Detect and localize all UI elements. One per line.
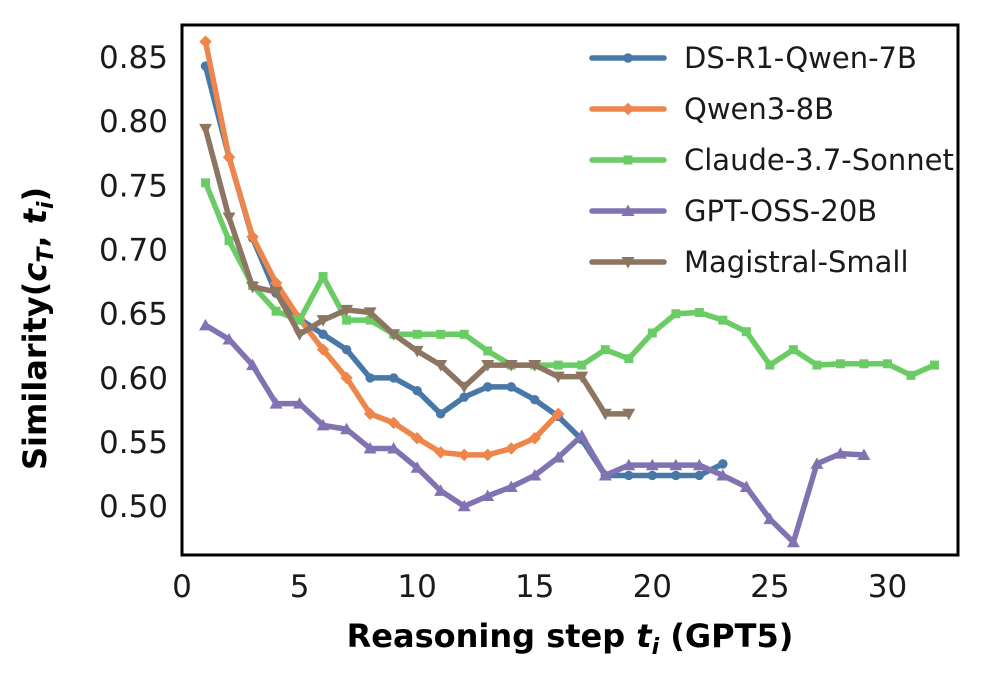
legend-label: Claude-3.7-Sonnet <box>684 143 954 177</box>
data-point-marker <box>859 359 868 368</box>
data-point-marker <box>695 471 704 480</box>
y-tick-label: 0.60 <box>99 361 168 397</box>
series-line <box>206 66 723 475</box>
plot-frame <box>182 25 958 555</box>
x-tick-label: 5 <box>290 569 310 605</box>
legend-label: GPT-OSS-20B <box>684 194 877 228</box>
data-point-marker <box>436 330 445 339</box>
data-point-marker <box>624 354 633 363</box>
data-point-marker <box>225 236 234 245</box>
x-tick-label: 30 <box>868 569 907 605</box>
y-axis-title: Similarity(cT, ti) <box>16 187 59 470</box>
y-tick-label: 0.50 <box>99 489 168 525</box>
data-point-marker <box>623 53 632 62</box>
y-tick-label: 0.70 <box>99 233 168 269</box>
data-point-marker <box>507 382 516 391</box>
data-point-marker <box>812 361 821 370</box>
data-point-marker <box>483 346 492 355</box>
data-point-marker <box>648 471 657 480</box>
data-point-marker <box>483 382 492 391</box>
data-point-marker <box>199 319 212 330</box>
chart-legend: DS-R1-Qwen-7BQwen3-8BClaude-3.7-SonnetGP… <box>592 41 954 279</box>
data-point-marker <box>319 272 328 281</box>
legend-entry: GPT-OSS-20B <box>592 194 877 228</box>
data-point-marker <box>530 395 539 404</box>
series-line <box>206 42 559 455</box>
data-point-marker <box>836 359 845 368</box>
data-point-marker <box>223 151 235 163</box>
x-tick-label: 25 <box>750 569 789 605</box>
legend-label: Magistral-Small <box>684 245 909 279</box>
legend-label: Qwen3-8B <box>684 92 834 126</box>
data-point-marker <box>624 471 633 480</box>
legend-entry: DS-R1-Qwen-7B <box>592 41 917 75</box>
data-point-marker <box>389 373 398 382</box>
data-point-marker <box>648 329 657 338</box>
y-tick-label: 0.65 <box>99 297 168 333</box>
data-point-marker <box>883 359 892 368</box>
data-point-marker <box>671 309 680 318</box>
y-tick-label: 0.80 <box>99 104 168 140</box>
x-axis-tick-labels: 051015202530 <box>172 569 907 605</box>
data-point-marker <box>318 330 327 339</box>
legend-entry: Magistral-Small <box>592 245 909 279</box>
legend-entry: Qwen3-8B <box>592 92 834 126</box>
data-point-marker <box>458 382 471 393</box>
data-point-marker <box>458 449 470 461</box>
data-point-marker <box>554 361 563 370</box>
data-point-marker <box>671 471 680 480</box>
y-tick-label: 0.85 <box>99 40 168 76</box>
data-point-marker <box>695 308 704 317</box>
x-tick-label: 10 <box>397 569 436 605</box>
data-point-marker <box>765 361 774 370</box>
data-point-marker <box>413 330 422 339</box>
data-point-marker <box>577 361 586 370</box>
y-tick-label: 0.55 <box>99 425 168 461</box>
data-point-marker <box>365 373 374 382</box>
svg-text:Reasoning step ti (GPT5): Reasoning step ti (GPT5) <box>347 617 794 660</box>
data-point-marker <box>436 409 445 418</box>
legend-entry: Claude-3.7-Sonnet <box>592 143 954 177</box>
data-point-marker <box>342 345 351 354</box>
x-tick-label: 15 <box>515 569 554 605</box>
data-point-marker <box>459 392 468 401</box>
data-point-marker <box>789 345 798 354</box>
x-axis-title: Reasoning step ti (GPT5) <box>347 617 794 660</box>
data-point-marker <box>622 103 634 115</box>
line-chart-svg: 0.500.550.600.650.700.750.800.85 0510152… <box>0 0 996 689</box>
chart-figure: 0.500.550.600.650.700.750.800.85 0510152… <box>0 0 996 689</box>
x-tick-label: 0 <box>172 569 192 605</box>
data-point-marker <box>342 316 351 325</box>
series-ds-r1-qwen-7b <box>201 61 728 480</box>
data-point-marker <box>293 329 306 340</box>
x-tick-label: 20 <box>633 569 672 605</box>
data-point-marker <box>481 449 493 461</box>
data-point-marker <box>742 327 751 336</box>
data-point-marker <box>201 178 210 187</box>
data-point-marker <box>624 156 633 165</box>
data-point-marker <box>272 307 281 316</box>
data-point-marker <box>199 124 212 135</box>
data-point-marker <box>906 371 915 380</box>
data-point-marker <box>718 459 727 468</box>
y-axis-tick-labels: 0.500.550.600.650.700.750.800.85 <box>99 40 168 525</box>
data-point-marker <box>718 316 727 325</box>
data-point-marker <box>601 345 610 354</box>
svg-text:Similarity(cT, ti): Similarity(cT, ti) <box>16 187 59 470</box>
y-tick-label: 0.75 <box>99 168 168 204</box>
data-point-marker <box>412 386 421 395</box>
data-point-marker <box>199 35 211 47</box>
legend-label: DS-R1-Qwen-7B <box>684 41 917 75</box>
data-point-marker <box>930 361 939 370</box>
data-point-marker <box>460 330 469 339</box>
